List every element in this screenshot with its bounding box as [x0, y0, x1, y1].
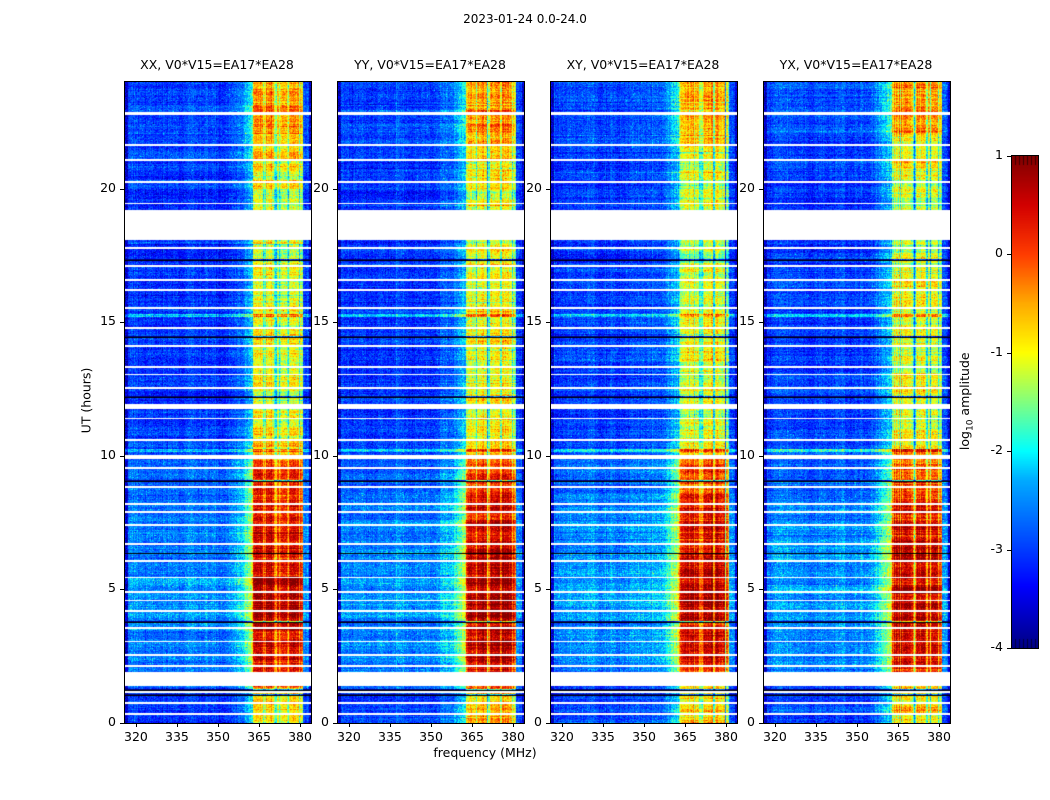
- y-tickmark: [120, 189, 124, 190]
- panel-title-xy: XY, V0*V15=EA17*EA28: [520, 57, 766, 72]
- y-tickmark: [120, 723, 124, 724]
- y-tickmark: [759, 189, 763, 190]
- x-tickmark: [685, 723, 686, 727]
- x-tickmark: [898, 723, 899, 727]
- x-tickmark: [857, 723, 858, 727]
- y-tick-label: 15: [715, 313, 755, 328]
- x-tickmark: [472, 723, 473, 727]
- colorbar-tick-label: 1: [961, 147, 1003, 162]
- y-tick-label: 20: [289, 180, 329, 195]
- y-tickmark: [546, 589, 550, 590]
- x-tickmark: [939, 723, 940, 727]
- y-tick-label: 10: [289, 447, 329, 462]
- y-tick-label: 15: [76, 313, 116, 328]
- colorbar-tick-label: -4: [961, 639, 1003, 654]
- x-tickmark: [177, 723, 178, 727]
- y-tickmark: [759, 723, 763, 724]
- x-tickmark: [816, 723, 817, 727]
- y-tick-label: 5: [76, 580, 116, 595]
- x-tickmark: [349, 723, 350, 727]
- y-tick-label: 5: [289, 580, 329, 595]
- waterfall-image-xy: [551, 82, 737, 723]
- y-tickmark: [333, 723, 337, 724]
- colorbar-tick-label: -3: [961, 541, 1003, 556]
- x-tickmark: [644, 723, 645, 727]
- y-tick-label: 0: [289, 714, 329, 729]
- panel-title-xx: XX, V0*V15=EA17*EA28: [94, 57, 340, 72]
- y-tick-label: 20: [715, 180, 755, 195]
- colorbar-label-subscript: 10: [965, 420, 975, 431]
- waterfall-panel-xx[interactable]: [124, 81, 312, 724]
- x-tick-label: 380: [275, 729, 325, 744]
- colorbar[interactable]: [1011, 155, 1039, 649]
- x-tickmark: [603, 723, 604, 727]
- colorbar-label-tail: amplitude: [957, 352, 972, 419]
- y-tickmark: [333, 456, 337, 457]
- y-tick-label: 10: [76, 447, 116, 462]
- y-tick-label: 20: [502, 180, 542, 195]
- y-tickmark: [546, 723, 550, 724]
- colorbar-tickmark: [1007, 648, 1011, 649]
- colorbar-tickmark: [1007, 156, 1011, 157]
- x-tickmark: [390, 723, 391, 727]
- waterfall-panel-yy[interactable]: [337, 81, 525, 724]
- x-tickmark: [775, 723, 776, 727]
- colorbar-tickmark: [1007, 451, 1011, 452]
- colorbar-tick-label: 0: [961, 245, 1003, 260]
- y-tick-label: 0: [76, 714, 116, 729]
- colorbar-gradient: [1012, 156, 1038, 648]
- y-tickmark: [759, 456, 763, 457]
- colorbar-tickmark: [1007, 550, 1011, 551]
- y-tickmark: [120, 456, 124, 457]
- colorbar-tickmark: [1007, 353, 1011, 354]
- y-tick-label: 5: [502, 580, 542, 595]
- y-tick-label: 15: [289, 313, 329, 328]
- y-tick-label: 10: [502, 447, 542, 462]
- waterfall-panel-xy[interactable]: [550, 81, 738, 724]
- y-tickmark: [333, 322, 337, 323]
- y-tick-label: 5: [715, 580, 755, 595]
- y-tickmark: [546, 322, 550, 323]
- y-tickmark: [120, 322, 124, 323]
- x-tick-label: 380: [701, 729, 751, 744]
- y-tickmark: [546, 456, 550, 457]
- figure-suptitle: 2023-01-24 0.0-24.0: [0, 12, 1050, 26]
- colorbar-label-base: log: [957, 431, 972, 450]
- y-tick-label: 20: [76, 180, 116, 195]
- y-tickmark: [333, 189, 337, 190]
- x-tickmark: [259, 723, 260, 727]
- panel-title-yx: YX, V0*V15=EA17*EA28: [733, 57, 979, 72]
- colorbar-label: log10 amplitude: [957, 341, 976, 461]
- panel-title-yy: YY, V0*V15=EA17*EA28: [307, 57, 553, 72]
- waterfall-image-xx: [125, 82, 311, 723]
- x-tick-label: 380: [914, 729, 964, 744]
- x-tickmark: [431, 723, 432, 727]
- y-tickmark: [759, 322, 763, 323]
- y-tick-label: 10: [715, 447, 755, 462]
- waterfall-panel-yx[interactable]: [763, 81, 951, 724]
- y-tick-label: 15: [502, 313, 542, 328]
- colorbar-tickmark: [1007, 254, 1011, 255]
- x-tick-label: 380: [488, 729, 538, 744]
- x-axis-label: frequency (MHz): [335, 745, 635, 760]
- y-tick-label: 0: [502, 714, 542, 729]
- y-tickmark: [759, 589, 763, 590]
- x-tickmark: [562, 723, 563, 727]
- x-tickmark: [136, 723, 137, 727]
- y-tickmark: [333, 589, 337, 590]
- waterfall-image-yy: [338, 82, 524, 723]
- y-tickmark: [546, 189, 550, 190]
- y-axis-label: UT (hours): [79, 340, 94, 460]
- waterfall-image-yx: [764, 82, 950, 723]
- y-tick-label: 0: [715, 714, 755, 729]
- x-tickmark: [218, 723, 219, 727]
- figure-canvas: 2023-01-24 0.0-24.0 frequency (MHz) UT (…: [0, 0, 1050, 800]
- y-tickmark: [120, 589, 124, 590]
